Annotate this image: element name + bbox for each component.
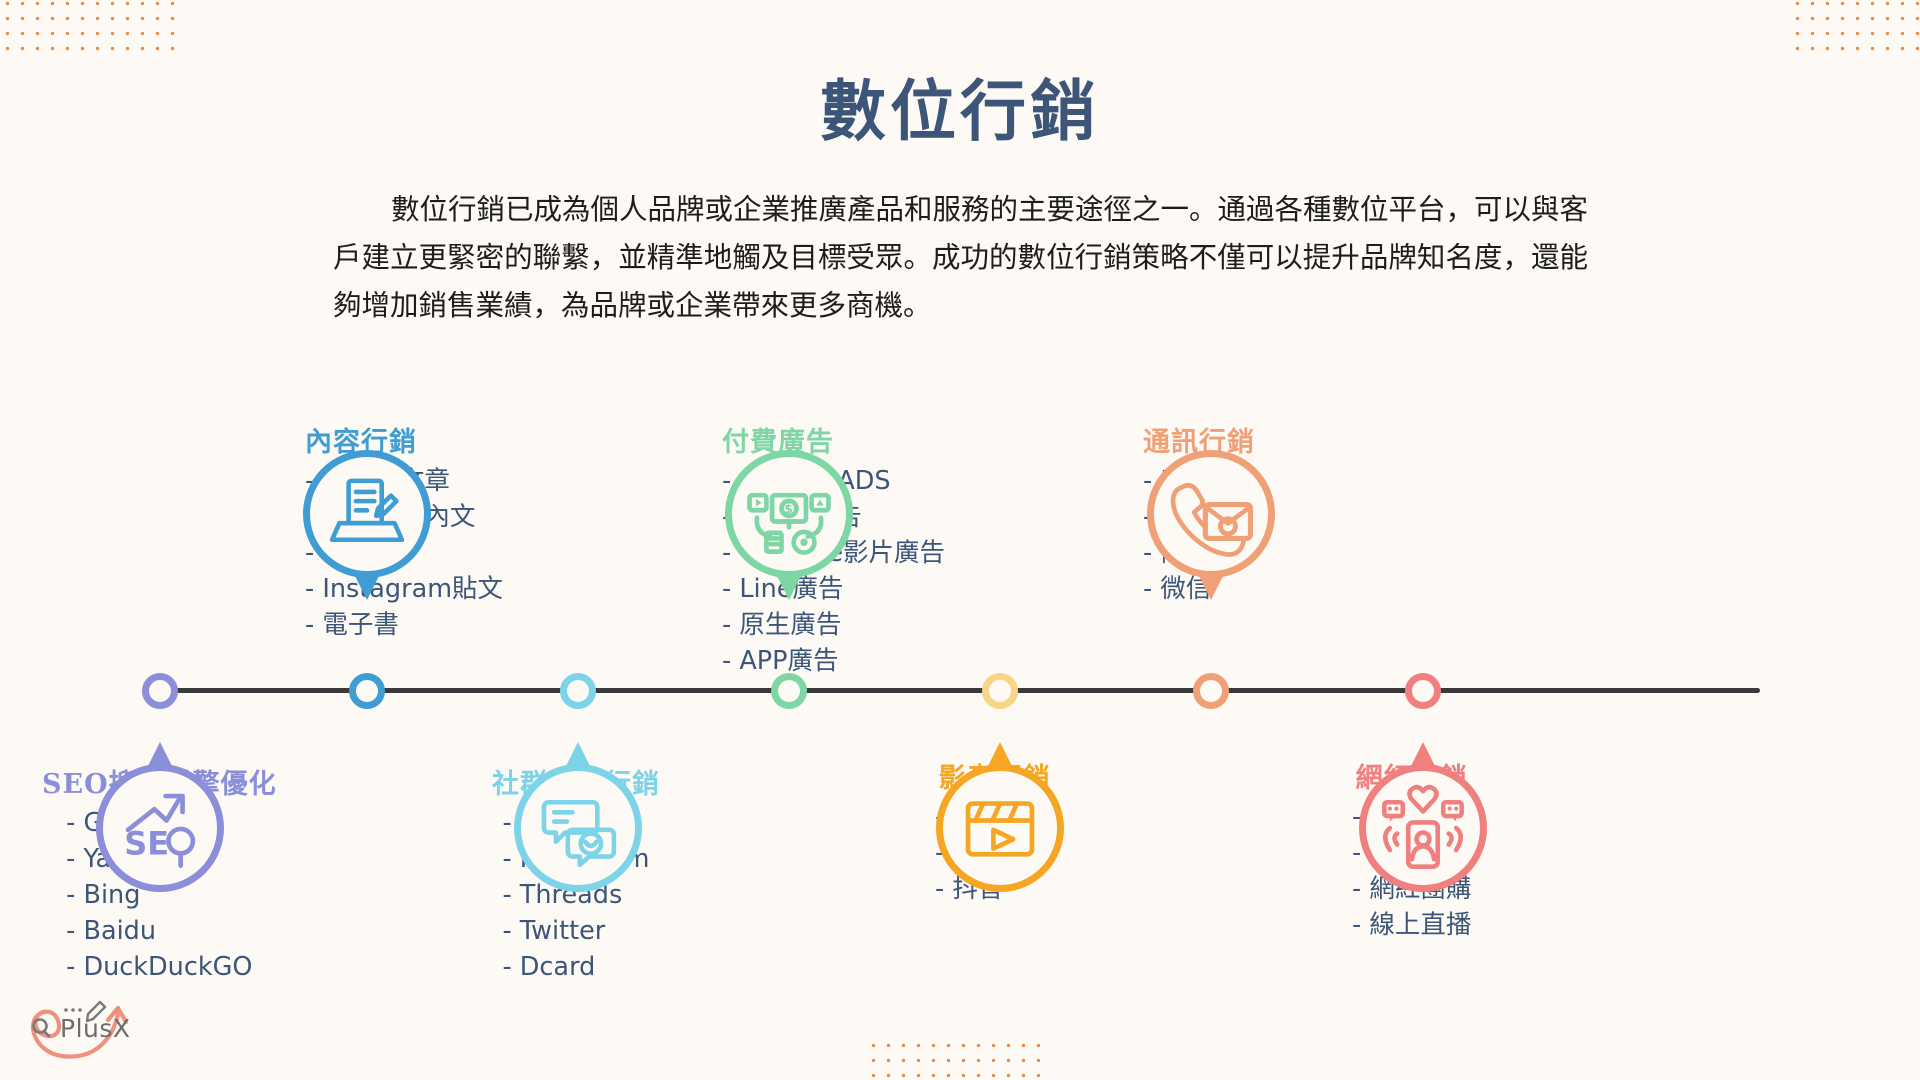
logo-wordmark: PlusX <box>60 1014 131 1043</box>
plusx-logo: PlusX <box>14 986 164 1070</box>
list-item: 電子書 <box>305 607 503 643</box>
dot-pattern-top-right <box>1790 0 1920 62</box>
pin-marker-seo[interactable]: SE <box>96 764 224 892</box>
video-clapperboard-play-icon <box>936 764 1064 892</box>
timeline-node-social[interactable] <box>560 673 596 709</box>
list-item: APP廣告 <box>722 643 945 679</box>
phone-envelope-at-icon <box>1147 450 1275 578</box>
svg-text:$: $ <box>784 502 793 516</box>
timeline-node-video[interactable] <box>982 673 1018 709</box>
list-item: 原生廣告 <box>722 607 945 643</box>
seo-chart-magnifier-icon: SE <box>96 764 224 892</box>
timeline-node-paid[interactable] <box>771 673 807 709</box>
pin-marker-paid[interactable]: $ <box>725 450 853 578</box>
list-item: 線上直播 <box>1352 907 1471 943</box>
timeline-node-seo[interactable] <box>142 673 178 709</box>
timeline-node-influencer[interactable] <box>1405 673 1441 709</box>
list-item: Dcard <box>502 949 649 985</box>
pin-marker-video[interactable] <box>936 764 1064 892</box>
list-item: DuckDuckGO <box>66 949 252 985</box>
svg-text:SE: SE <box>124 824 169 862</box>
timeline-rail <box>160 688 1760 693</box>
laptop-document-pen-icon <box>303 450 431 578</box>
list-item: Baidu <box>66 913 252 949</box>
ad-campaign-monitor-icon: $ <box>725 450 853 578</box>
smartphone-person-hearts-icon <box>1359 764 1487 892</box>
page-title: 數位行銷 <box>0 58 1920 154</box>
chat-bubbles-heart-icon <box>514 764 642 892</box>
intro-paragraph: 數位行銷已成為個人品牌或企業推廣產品和服務的主要途徑之一。通過各種數位平台，可以… <box>333 186 1588 330</box>
pin-marker-influencer[interactable] <box>1359 764 1487 892</box>
dot-pattern-top-left <box>0 0 184 62</box>
pin-marker-social[interactable] <box>514 764 642 892</box>
timeline-node-messaging[interactable] <box>1193 673 1229 709</box>
list-item: Twitter <box>502 913 649 949</box>
timeline-node-content[interactable] <box>349 673 385 709</box>
dot-pattern-bottom-center <box>866 1038 1051 1080</box>
pin-marker-messaging[interactable] <box>1147 450 1275 578</box>
pin-marker-content[interactable] <box>303 450 431 578</box>
